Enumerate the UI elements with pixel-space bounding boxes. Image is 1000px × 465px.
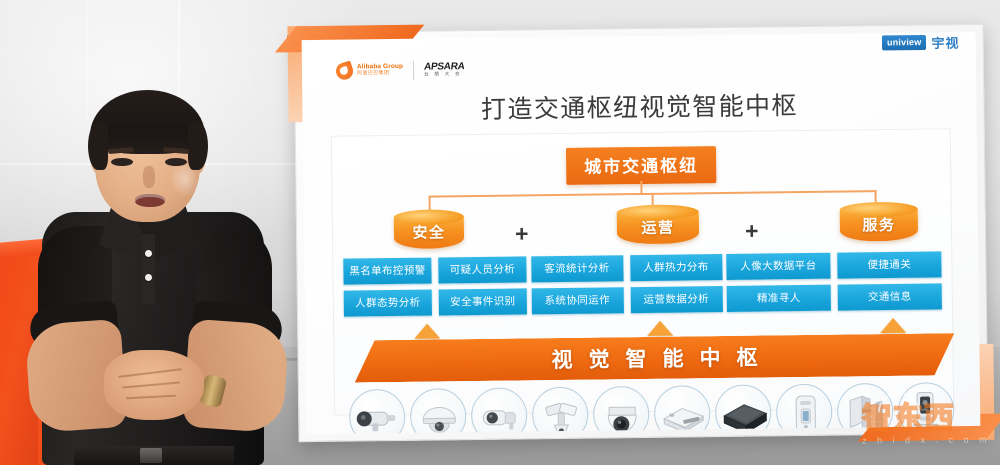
presenter-hair-side-right <box>188 122 208 170</box>
capability-row: 人像大数据平台 便捷通关 <box>726 251 941 280</box>
capability-chip[interactable]: 交通信息 <box>838 283 942 310</box>
category-row: 安全 + 运营 + 服务 <box>333 201 952 257</box>
presenter-shirt-button <box>145 274 152 281</box>
apsara-logo-en: APSARA <box>423 62 465 73</box>
uniview-logo: uniview 宇视 <box>882 33 960 53</box>
capability-row: 人群态势分析 安全事件识别 <box>344 288 527 316</box>
category-cylinder-service[interactable]: 服务 <box>840 202 918 243</box>
slide-title: 打造交通枢纽视觉智能中枢 <box>302 84 976 128</box>
presenter-belt-buckle <box>140 448 162 463</box>
capability-chip[interactable]: 精准寻人 <box>727 285 831 312</box>
presenter-hair-side-left <box>88 122 108 170</box>
category-cylinder-operations[interactable]: 运营 <box>617 204 699 245</box>
platform-banner: 视觉智能中枢 <box>354 333 954 382</box>
capability-chip[interactable]: 安全事件识别 <box>439 288 527 315</box>
presenter-eye-left <box>111 158 133 166</box>
watermark: 智东西 z h i d x . c o m <box>862 403 994 458</box>
capability-chip[interactable]: 便捷通关 <box>837 251 941 278</box>
apsara-conference-logo: APSARA 云 栖 大 会 <box>424 62 465 78</box>
presenter-eye-right <box>165 158 187 166</box>
slide-logo-row: Alibaba Group 阿里巴巴集团 APSARA 云 栖 大 会 <box>336 60 465 81</box>
capability-chip[interactable]: 黑名单布控预警 <box>343 258 431 285</box>
category-cylinder-security[interactable]: 安全 <box>394 209 464 250</box>
capability-chip[interactable]: 人群态势分析 <box>344 290 432 317</box>
ptz-dome-camera-icon[interactable] <box>593 386 650 434</box>
capability-row: 系统协同运作 运营数据分析 <box>531 286 722 314</box>
dome-camera-icon[interactable] <box>410 388 467 434</box>
capability-chip[interactable]: 运营数据分析 <box>630 286 722 313</box>
uniview-badge: uniview <box>882 35 927 50</box>
capability-row: 精准寻人 交通信息 <box>727 283 942 312</box>
up-arrow-icon <box>880 318 906 333</box>
mini-dome-camera-icon[interactable] <box>471 387 528 434</box>
slide-canvas: Alibaba Group 阿里巴巴集团 APSARA 云 栖 大 会 打造交通… <box>302 32 981 434</box>
panoramic-camera-icon[interactable] <box>532 387 589 434</box>
presenter <box>0 60 300 465</box>
category-label: 服务 <box>840 214 918 236</box>
capability-row: 客流统计分析 人群热力分布 <box>531 254 722 282</box>
presenter-shirt-button <box>145 250 152 257</box>
capability-chip[interactable]: 可疑人员分析 <box>438 256 526 283</box>
banner-label: 视觉智能中枢 <box>354 333 954 382</box>
capability-group-security: 黑名单布控预警 可疑人员分析 人群态势分析 安全事件识别 <box>343 256 527 320</box>
category-label: 运营 <box>617 216 699 238</box>
plus-operator-icon: + <box>515 220 529 247</box>
presenter-mouth <box>135 194 165 207</box>
architecture-diagram: 城市交通枢纽 安全 + 运营 <box>331 128 954 416</box>
presenter-nose <box>143 166 155 188</box>
capability-group-service: 人像大数据平台 便捷通关 精准寻人 交通信息 <box>726 251 942 316</box>
capability-row: 黑名单布控预警 可疑人员分析 <box>343 256 526 284</box>
capability-chip[interactable]: 客流统计分析 <box>531 255 623 282</box>
category-label: 安全 <box>394 221 464 243</box>
presentation-slide: Alibaba Group 阿里巴巴集团 APSARA 云 栖 大 会 打造交通… <box>294 24 989 442</box>
capability-group-operations: 客流统计分析 人群热力分布 系统协同运作 运营数据分析 <box>531 254 723 318</box>
up-arrow-icon <box>647 321 673 336</box>
capability-chip[interactable]: 系统协同运作 <box>531 287 623 314</box>
plus-operator-icon: + <box>745 218 759 245</box>
bullet-camera-icon[interactable] <box>349 389 406 434</box>
apsara-logo-cn: 云 栖 大 会 <box>424 72 464 77</box>
network-switch-icon[interactable] <box>654 385 711 434</box>
watermark-url: z h i d x . c o m <box>862 434 994 445</box>
uniview-logo-cn: 宇视 <box>931 33 959 52</box>
alibaba-mark-icon <box>334 61 355 82</box>
video-frame: Alibaba Group 阿里巴巴集团 APSARA 云 栖 大 会 打造交通… <box>0 0 1000 465</box>
alibaba-group-logo: Alibaba Group 阿里巴巴集团 <box>336 62 403 80</box>
logo-divider <box>413 61 414 80</box>
hub-label: 城市交通枢纽 <box>566 146 716 185</box>
capability-chip[interactable]: 人群热力分布 <box>630 254 722 281</box>
alibaba-logo-cn: 阿里巴巴集团 <box>357 71 403 77</box>
capability-chip[interactable]: 人像大数据平台 <box>726 253 830 280</box>
access-control-reader-icon[interactable] <box>776 384 833 434</box>
up-arrow-icon <box>414 323 440 338</box>
presenter-shirt-placket <box>141 234 155 304</box>
nvr-recorder-icon[interactable] <box>715 384 772 434</box>
capability-groups: 黑名单布控预警 可疑人员分析 人群态势分析 安全事件识别 客流统计分析 人群热力… <box>343 251 942 320</box>
